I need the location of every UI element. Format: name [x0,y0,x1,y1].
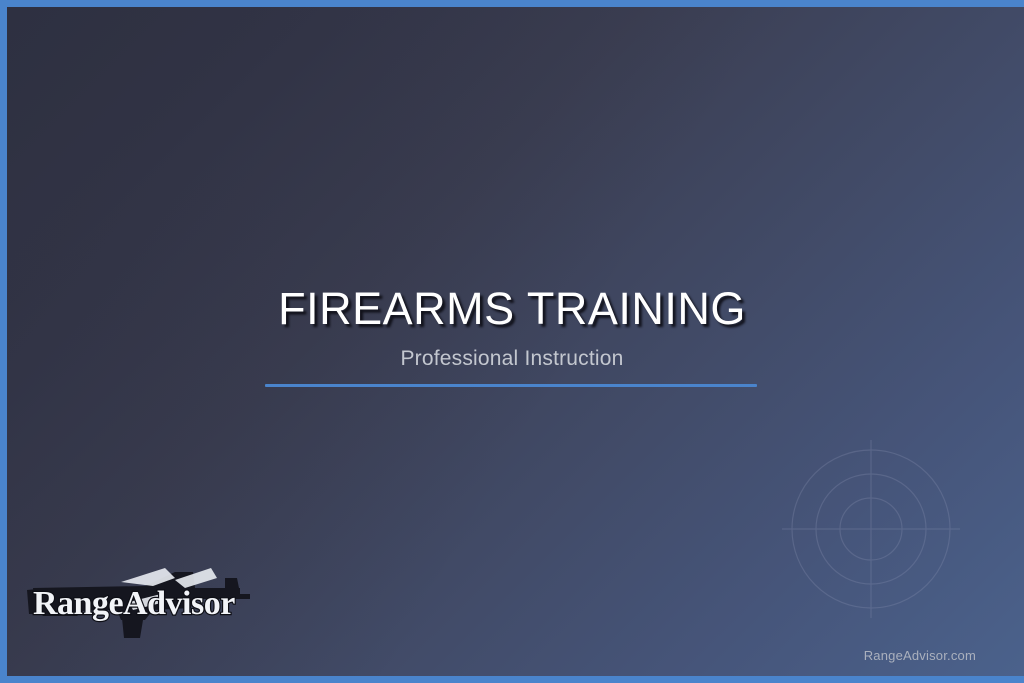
title-divider [265,384,757,387]
footer-website: RangeAdvisor.com [864,648,976,663]
slide-border-bottom [0,676,1024,683]
page-subtitle: Professional Instruction [0,347,1024,371]
title-block: FIREARMS TRAINING Professional Instructi… [0,286,1024,371]
presentation-slide: FIREARMS TRAINING Professional Instructi… [0,0,1024,683]
rangeadvisor-logo: RangeAdvisor [25,558,260,640]
logo-wordmark: RangeAdvisor [33,585,235,622]
slide-border-top [0,0,1024,7]
page-title: FIREARMS TRAINING [0,286,1024,331]
crosshair-target-icon [776,434,966,624]
